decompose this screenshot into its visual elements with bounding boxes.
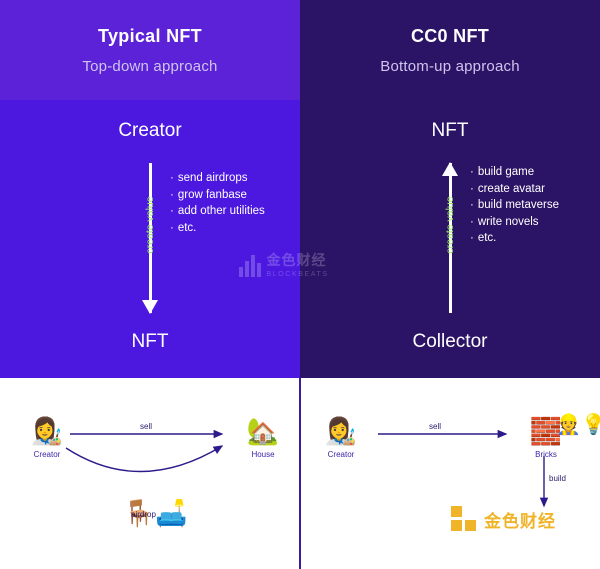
- bottom-band: 👩‍🎨 Creator 🏡 House 🪑🛋️ sell airdrop: [0, 378, 600, 569]
- bullet-dot-icon: ·: [470, 199, 474, 211]
- right-arrow: create value: [428, 163, 472, 313]
- bottom-left-edge-sell-label: sell: [140, 422, 152, 431]
- watermark-logo-icon: [451, 506, 477, 532]
- left-bottom-label: NFT: [0, 331, 300, 353]
- left-arrow: create value: [128, 163, 172, 313]
- header-right: CC0 NFT Bottom-up approach: [300, 0, 600, 100]
- right-bullet-list: ·build game ·create avatar ·build metave…: [470, 164, 559, 247]
- creator-caption: Creator: [34, 450, 61, 459]
- header-right-subtitle: Bottom-up approach: [380, 58, 520, 75]
- header-left: Typical NFT Top-down approach: [0, 0, 300, 100]
- bullet-text: create avatar: [478, 183, 545, 195]
- bullet-dot-icon: ·: [470, 166, 474, 178]
- bullet-text: add other utilities: [178, 205, 265, 217]
- bullet-text: etc.: [478, 232, 497, 244]
- right-arrow-caption: create value: [444, 177, 456, 273]
- bullet-dot-icon: ·: [470, 183, 474, 195]
- watermark-cn-text: 金色财经: [267, 253, 329, 268]
- bullet-dot-icon: ·: [170, 172, 174, 184]
- middle-left-panel: Creator NFT create value ·send airdrops …: [0, 100, 300, 378]
- bottom-right-node-builders: 👷💡: [546, 410, 600, 444]
- watermark-bars-icon: [239, 255, 261, 277]
- bullet-text: build metaverse: [478, 199, 559, 211]
- left-arrow-caption: create value: [144, 177, 156, 273]
- right-top-label: NFT: [300, 120, 600, 142]
- builders-icon: 👷💡: [556, 410, 600, 440]
- left-top-label: Creator: [0, 120, 300, 142]
- bullet-dot-icon: ·: [170, 189, 174, 201]
- bullet-text: write novels: [478, 216, 539, 228]
- creator-icon: 👩‍🎨: [325, 416, 357, 446]
- left-bullet-list: ·send airdrops ·grow fanbase ·add other …: [170, 170, 265, 236]
- bottom-right-panel: 👩‍🎨 Creator 🧱 Bricks 👷💡 sell build 金色财经: [301, 378, 600, 569]
- right-bottom-label: Collector: [300, 331, 600, 353]
- bullet-text: send airdrops: [178, 172, 248, 184]
- watermark-en-text: BLOCKBEATS: [267, 271, 329, 279]
- watermark-bottom-right-text: 金色财经: [484, 507, 556, 532]
- bullet-text: grow fanbase: [178, 189, 247, 201]
- diagram-root: Typical NFT Top-down approach CC0 NFT Bo…: [0, 0, 600, 569]
- watermark-bottom-right: 金色财经: [451, 506, 556, 532]
- bottom-left-node-house: 🏡 House: [228, 416, 298, 459]
- creator-icon: 👩‍🎨: [31, 416, 63, 446]
- watermark-center: 金色财经 BLOCKBEATS: [239, 246, 369, 286]
- bottom-right-node-creator: 👩‍🎨 Creator: [306, 416, 376, 459]
- bottom-right-edge-sell-label: sell: [429, 422, 441, 431]
- bullet-text: build game: [478, 166, 534, 178]
- creator-caption: Creator: [328, 450, 355, 459]
- bullet-text: etc.: [178, 222, 197, 234]
- middle-band: Creator NFT create value ·send airdrops …: [0, 100, 600, 378]
- bullet-dot-icon: ·: [470, 232, 474, 244]
- house-caption: House: [251, 450, 274, 459]
- header-band: Typical NFT Top-down approach CC0 NFT Bo…: [0, 0, 600, 100]
- bullet-dot-icon: ·: [170, 205, 174, 217]
- bullet-dot-icon: ·: [170, 222, 174, 234]
- bottom-left-edge-airdrop-label: airdrop: [131, 510, 156, 519]
- middle-right-panel: NFT Collector create value ·build game ·…: [300, 100, 600, 378]
- arrow-down-icon: [142, 300, 158, 314]
- bottom-left-connectors: [0, 378, 299, 569]
- bottom-left-panel: 👩‍🎨 Creator 🏡 House 🪑🛋️ sell airdrop: [0, 378, 299, 569]
- bottom-left-node-creator: 👩‍🎨 Creator: [12, 416, 82, 459]
- header-left-subtitle: Top-down approach: [82, 58, 217, 75]
- bullet-dot-icon: ·: [470, 216, 474, 228]
- bricks-caption: Bricks: [535, 450, 557, 459]
- header-left-title: Typical NFT: [98, 26, 202, 47]
- header-right-title: CC0 NFT: [411, 26, 489, 47]
- arrow-up-icon: [442, 162, 458, 176]
- bottom-right-edge-build-label: build: [549, 474, 566, 483]
- house-icon: 🏡: [247, 416, 279, 446]
